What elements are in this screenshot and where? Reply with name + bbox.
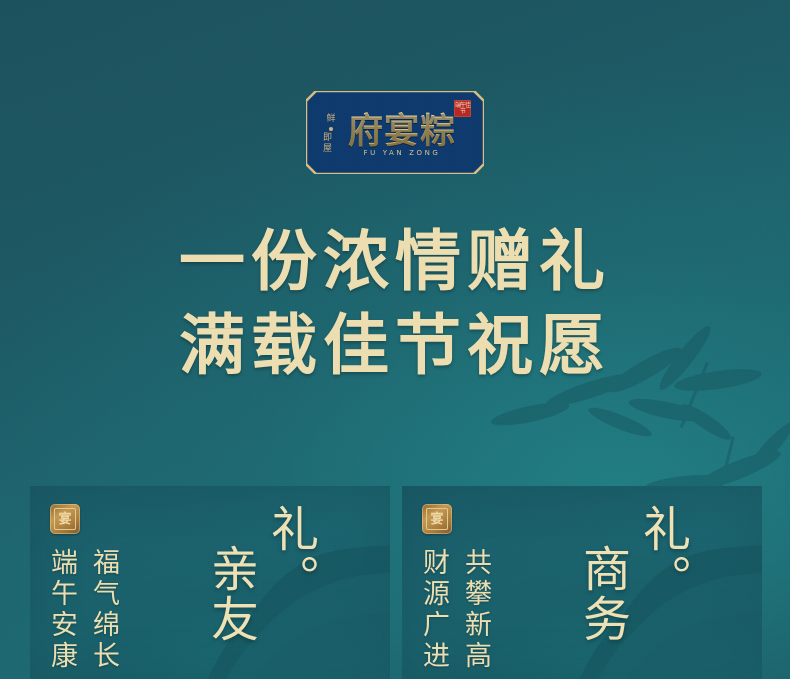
small-column-1: 福气绵长 <box>88 548 118 672</box>
big-column-2: 商务 <box>574 544 630 644</box>
brand-pinyin: FU YAN ZONG <box>346 149 458 157</box>
right-card-small-text: 共攀新高 财源广进 <box>418 548 490 672</box>
headline-line-1: 一份浓情赠礼 <box>0 222 790 300</box>
left-card-small-text: 福气绵长 端午安康 <box>46 548 118 672</box>
card-business-gift[interactable]: 宴 共攀新高 财源广进 礼。 商务 <box>402 486 762 679</box>
left-card-big-text: 礼。 亲友 <box>202 508 318 644</box>
brand-name: 府宴粽 <box>346 105 458 151</box>
seal-badge-right: 宴 <box>422 504 452 534</box>
small-column-2: 端午安康 <box>46 548 76 672</box>
seal-badge-left: 宴 <box>50 504 80 534</box>
plaque-dot-icon <box>329 127 333 131</box>
badge-char: 宴 <box>426 508 448 530</box>
small-column-1: 共攀新高 <box>460 548 490 672</box>
big-column-1: 礼。 <box>262 504 318 604</box>
badge-char: 宴 <box>54 508 76 530</box>
plaque-side-text: 鲜 即屋 <box>323 111 339 157</box>
plaque-side-text-top: 鲜 <box>326 114 335 125</box>
plaque-side-text-bottom: 即屋 <box>323 133 339 155</box>
big-column-1: 礼。 <box>634 504 690 604</box>
big-column-2: 亲友 <box>202 544 258 644</box>
small-column-2: 财源广进 <box>418 548 448 672</box>
gift-category-cards: 宴 福气绵长 端午安康 礼。 亲友 <box>30 486 762 679</box>
red-seal-stamp-icon: 端午佳节 <box>454 100 471 117</box>
headline-line-2: 满载佳节祝愿 <box>0 306 790 384</box>
brand-logo-plaque[interactable]: 鲜 即屋 府宴粽 FU YAN ZONG 端午佳节 <box>306 91 484 174</box>
card-family-gift[interactable]: 宴 福气绵长 端午安康 礼。 亲友 <box>30 486 390 679</box>
right-card-big-text: 礼。 商务 <box>574 508 690 644</box>
promo-poster: 鲜 即屋 府宴粽 FU YAN ZONG 端午佳节 一份浓情赠礼 满载佳节祝愿 <box>0 0 790 679</box>
